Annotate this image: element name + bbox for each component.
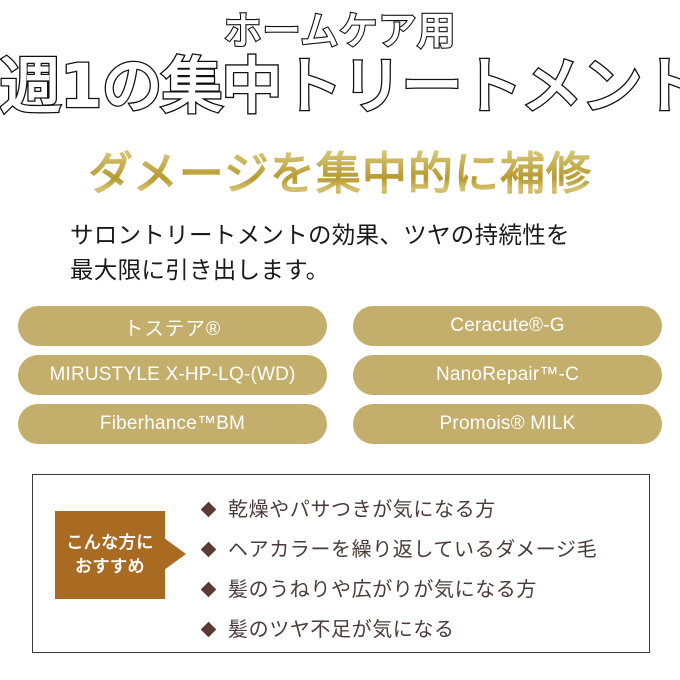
callout-tail-arrow-icon <box>164 538 186 570</box>
recommendation-bullet-list: 乾燥やパサつきが気になる方 ヘアカラーを繰り返しているダメージ毛 髪のうねりや広… <box>203 489 633 649</box>
list-item: 髪のツヤ不足が気になる <box>203 609 633 649</box>
ingredient-pill[interactable]: Promois® MILK <box>353 404 662 444</box>
ingredient-pill[interactable]: Ceracute®-G <box>353 306 662 346</box>
list-item-label: 髪のうねりや広がりが気になる方 <box>228 576 537 602</box>
diamond-bullet-icon <box>201 581 217 597</box>
promo-page: ホームケア用 週1の集中トリートメント ダメージを集中的に補修 サロントリートメ… <box>0 0 680 680</box>
headline-block: ホームケア用 週1の集中トリートメント <box>0 8 680 122</box>
description-line-2: 最大限に引き出します。 <box>70 253 630 288</box>
list-item-label: 乾燥やパサつきが気になる方 <box>228 496 496 522</box>
diamond-bullet-icon <box>201 541 217 557</box>
ingredient-pill[interactable]: Fiberhance™BM <box>18 404 327 444</box>
description-paragraph: サロントリートメントの効果、ツヤの持続性を 最大限に引き出します。 <box>70 218 630 288</box>
callout-line-1: こんな方に <box>66 533 154 554</box>
headline-subtitle: ホームケア用 <box>0 8 680 54</box>
list-item: 乾燥やパサつきが気になる方 <box>203 489 633 529</box>
list-item-label: 髪のツヤ不足が気になる <box>228 616 455 642</box>
recommendation-callout-badge: こんな方に おすすめ <box>55 511 165 599</box>
description-line-1: サロントリートメントの効果、ツヤの持続性を <box>70 218 630 253</box>
ingredient-pill[interactable]: トステア® <box>18 306 327 346</box>
headline-main-title: 週1の集中トリートメント <box>0 52 680 122</box>
diamond-bullet-icon <box>201 501 217 517</box>
ingredient-pill[interactable]: MIRUSTYLE X-HP-LQ-(WD) <box>18 355 327 395</box>
ingredient-pill-grid: トステア® Ceracute®-G MIRUSTYLE X-HP-LQ-(WD)… <box>18 306 662 444</box>
callout-line-2: おすすめ <box>75 557 145 578</box>
ingredient-pill[interactable]: NanoRepair™-C <box>353 355 662 395</box>
gold-subtitle: ダメージを集中的に補修 <box>0 146 680 202</box>
diamond-bullet-icon <box>201 621 217 637</box>
list-item-label: ヘアカラーを繰り返しているダメージ毛 <box>228 536 597 562</box>
list-item: 髪のうねりや広がりが気になる方 <box>203 569 633 609</box>
list-item: ヘアカラーを繰り返しているダメージ毛 <box>203 529 633 569</box>
